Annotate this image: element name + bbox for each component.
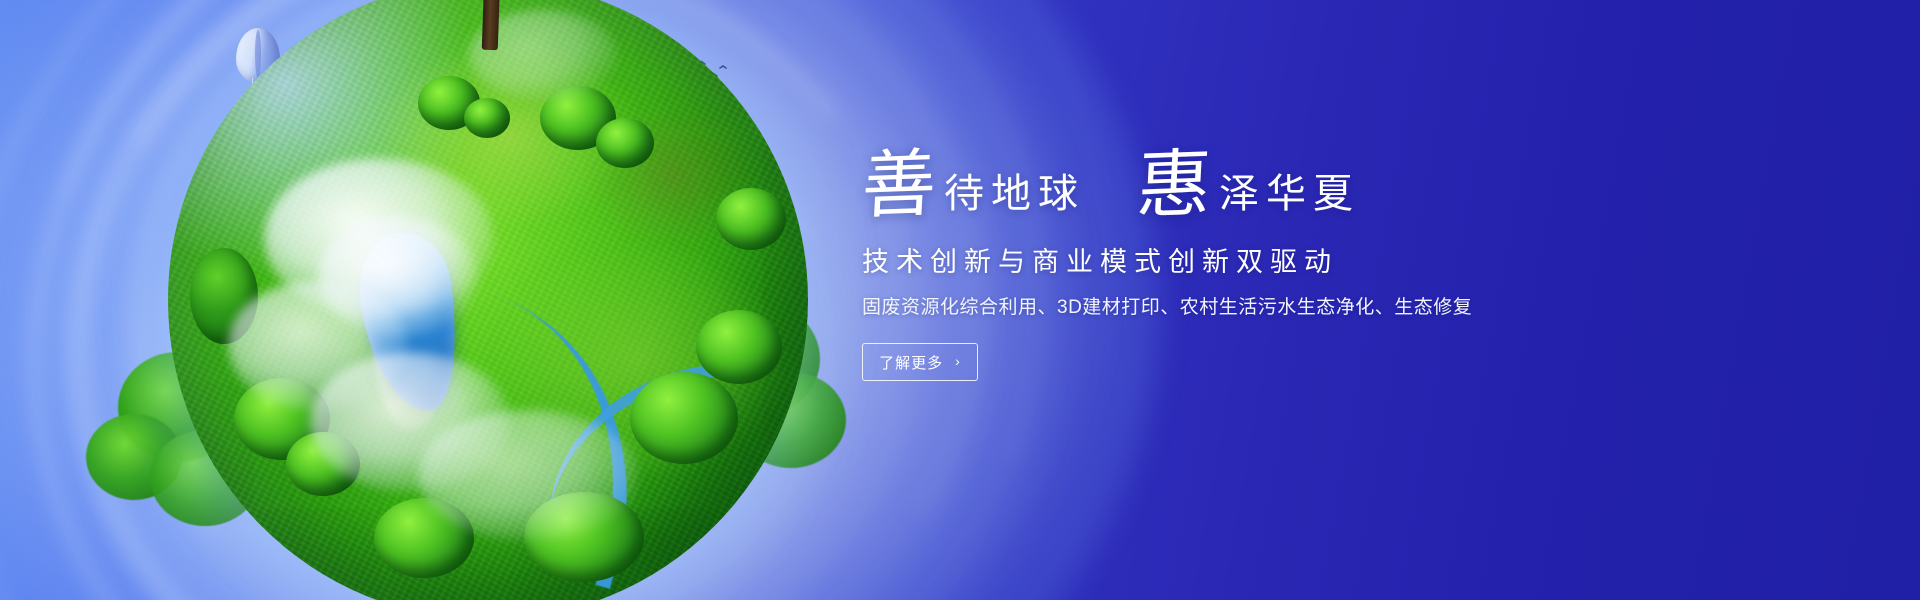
banner-content: 善 待地球 惠 泽华夏 技术创新与商业模式创新双驱动 固废资源化综合利用、3D建… bbox=[862, 126, 1842, 381]
page-title: 善 待地球 惠 泽华夏 bbox=[862, 126, 1842, 222]
learn-more-label: 了解更多 bbox=[879, 352, 943, 373]
learn-more-button[interactable]: 了解更多 › bbox=[862, 343, 978, 381]
headline-run-1: 待地球 bbox=[944, 174, 1085, 222]
hero-banner: 善 待地球 惠 泽华夏 技术创新与商业模式创新双驱动 固废资源化综合利用、3D建… bbox=[0, 0, 1920, 600]
earth-globe bbox=[168, 0, 808, 600]
headline-run-2: 泽华夏 bbox=[1219, 174, 1360, 222]
globe-sphere bbox=[168, 0, 808, 600]
headline-brush-char-2: 惠 bbox=[1135, 147, 1213, 224]
chevron-right-icon: › bbox=[955, 354, 961, 368]
tree-icon bbox=[596, 118, 654, 168]
tree-icon bbox=[630, 372, 738, 464]
globe-cloud bbox=[418, 410, 638, 540]
tree-icon bbox=[696, 310, 782, 384]
tree-icon bbox=[464, 98, 510, 138]
headline-brush-char-1: 善 bbox=[860, 147, 938, 224]
tree-icon bbox=[716, 188, 786, 250]
banner-description: 固废资源化综合利用、3D建材打印、农村生活污水生态净化、生态修复 bbox=[862, 296, 1842, 321]
banner-subtitle: 技术创新与商业模式创新双驱动 bbox=[862, 246, 1842, 278]
